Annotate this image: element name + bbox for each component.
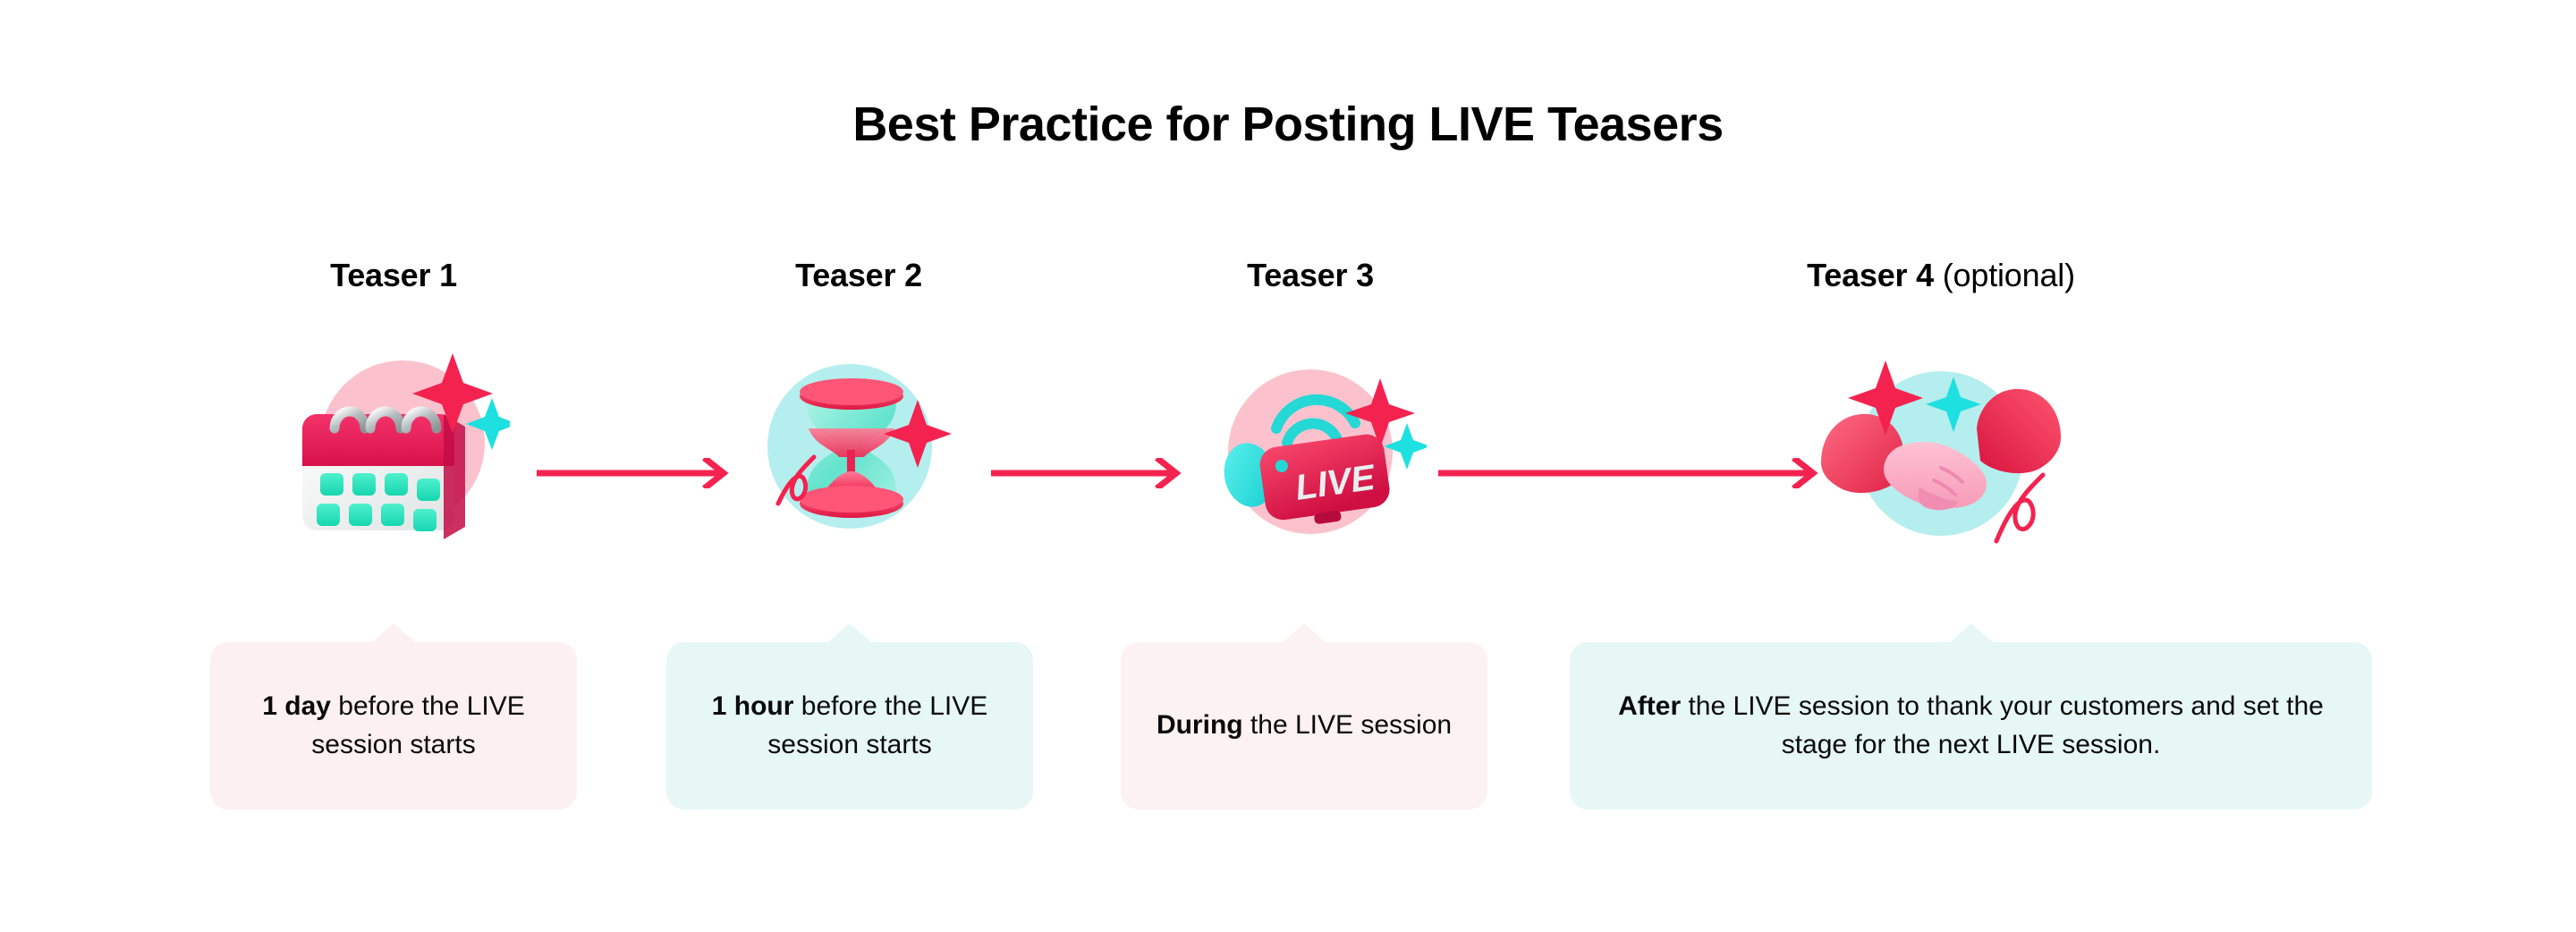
- step-2-heading-label: Teaser 2: [795, 257, 922, 293]
- step-3-heading: Teaser 3: [1140, 259, 1480, 292]
- step-1-heading-label: Teaser 1: [330, 257, 457, 293]
- step-4-icon-wrap: [1690, 324, 2191, 565]
- step-3-heading-label: Teaser 3: [1247, 257, 1374, 293]
- handshake-3d-icon: [1807, 328, 2075, 561]
- step-2-heading: Teaser 2: [689, 259, 1029, 292]
- bubble-1-notch: [372, 623, 415, 642]
- live-camera-3d-icon: LIVE: [1194, 328, 1427, 561]
- caption-bubble-teaser-4: After the LIVE session to thank your cus…: [1570, 642, 2372, 809]
- caption-2-emphasis: 1 hour: [712, 691, 794, 721]
- page-title: Best Practice for Posting LIVE Teasers: [0, 97, 2576, 152]
- step-1-icon-wrap: [224, 324, 563, 565]
- caption-4-rest: the LIVE session to thank your customers…: [1681, 691, 2324, 759]
- caption-4-text: After the LIVE session to thank your cus…: [1593, 688, 2349, 764]
- hourglass-3d-icon: [742, 328, 975, 561]
- caption-3-emphasis: During: [1157, 710, 1243, 740]
- step-2-icon-wrap: [689, 324, 1029, 565]
- step-1-heading: Teaser 1: [224, 259, 563, 292]
- step-teaser-4: Teaser 4 (optional): [1690, 259, 2191, 565]
- caption-bubble-teaser-3: During the LIVE session: [1121, 642, 1487, 809]
- arrow-step3-to-step4: [1438, 458, 1823, 488]
- calendar-3d-icon: [277, 328, 510, 561]
- step-teaser-2: Teaser 2: [689, 259, 1029, 565]
- caption-2-text: 1 hour before the LIVE session starts: [690, 688, 1010, 764]
- bubble-4-notch: [1950, 623, 1993, 642]
- caption-4-emphasis: After: [1618, 691, 1681, 721]
- step-4-optional-label: (optional): [1934, 257, 2075, 293]
- caption-2-rest: before the LIVE session starts: [767, 691, 987, 759]
- steps-row: Teaser 1: [0, 259, 2576, 617]
- caption-1-rest: before the LIVE session starts: [311, 691, 524, 759]
- bubble-3-notch: [1283, 623, 1326, 642]
- infographic-page: Best Practice for Posting LIVE Teasers T…: [0, 0, 2576, 932]
- caption-1-text: 1 day before the LIVE session starts: [233, 688, 554, 764]
- step-4-heading: Teaser 4 (optional): [1690, 259, 2191, 292]
- caption-3-rest: the LIVE session: [1243, 710, 1452, 740]
- bubble-2-notch: [828, 623, 871, 642]
- caption-1-emphasis: 1 day: [262, 691, 331, 721]
- step-3-icon-wrap: LIVE: [1140, 324, 1480, 565]
- caption-bubble-teaser-2: 1 hour before the LIVE session starts: [666, 642, 1033, 809]
- step-4-heading-label: Teaser 4: [1807, 257, 1934, 293]
- arrow-step1-to-step2: [537, 458, 733, 488]
- caption-bubble-teaser-1: 1 day before the LIVE session starts: [210, 642, 577, 809]
- step-teaser-1: Teaser 1: [224, 259, 563, 565]
- arrow-step2-to-step3: [991, 458, 1186, 488]
- step-teaser-3: Teaser 3: [1140, 259, 1480, 565]
- caption-3-text: During the LIVE session: [1157, 707, 1452, 745]
